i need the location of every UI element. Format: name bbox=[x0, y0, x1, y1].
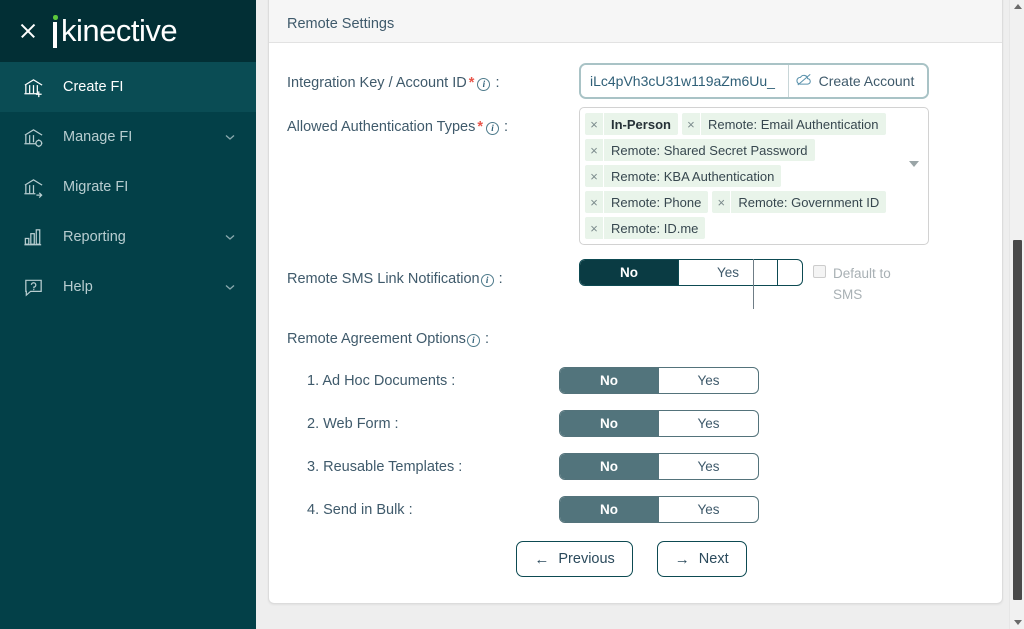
remove-tag-icon[interactable]: × bbox=[682, 113, 701, 135]
tag-chip[interactable]: × Remote: Government ID bbox=[712, 191, 886, 213]
sms-notification-row: Remote SMS Link Notificationi : No Yes D… bbox=[287, 259, 976, 305]
agreement-row-label: 4. Send in Bulk : bbox=[287, 502, 559, 518]
auth-types-row: Allowed Authentication Types*i : × In-Pe… bbox=[287, 107, 976, 245]
agreement-options-label: Remote Agreement Optionsi : bbox=[287, 331, 976, 347]
sms-label: Remote SMS Link Notificationi : bbox=[287, 259, 579, 289]
tag-chip[interactable]: × Remote: Email Authentication bbox=[682, 113, 886, 135]
scrollbar-thumb[interactable] bbox=[1013, 240, 1022, 600]
arrow-right-icon: → bbox=[675, 552, 690, 567]
send-in-bulk-toggle[interactable]: No Yes bbox=[559, 496, 759, 523]
web-form-toggle[interactable]: No Yes bbox=[559, 410, 759, 437]
sidebar-item-create-fi[interactable]: Create FI bbox=[0, 62, 256, 112]
remove-tag-icon[interactable]: × bbox=[585, 139, 604, 161]
label-colon: : bbox=[504, 119, 508, 135]
sidebar-item-label: Migrate FI bbox=[63, 179, 236, 195]
cloud-off-icon bbox=[796, 73, 812, 89]
previous-button[interactable]: ← Previous bbox=[516, 541, 632, 577]
toggle-yes[interactable]: Yes bbox=[659, 368, 758, 393]
brand-name: kinective bbox=[61, 14, 177, 48]
sms-toggle-yes[interactable]: Yes bbox=[679, 260, 778, 285]
main-content: Remote Settings Integration Key / Accoun… bbox=[256, 0, 1024, 629]
tag-label: Remote: Email Authentication bbox=[701, 113, 886, 135]
scroll-down-arrow-icon[interactable] bbox=[1014, 620, 1022, 625]
integration-key-group: Create Account bbox=[579, 63, 929, 99]
sidebar-item-label: Create FI bbox=[63, 79, 236, 95]
sms-toggle-no[interactable]: No bbox=[580, 260, 679, 285]
integration-key-row: Integration Key / Account ID*i : bbox=[287, 63, 976, 99]
tag-label: Remote: Shared Secret Password bbox=[604, 139, 815, 161]
next-button-label: Next bbox=[699, 551, 729, 567]
toggle-no[interactable]: No bbox=[560, 454, 659, 479]
sidebar-item-label: Help bbox=[63, 279, 206, 295]
sidebar-item-label: Reporting bbox=[63, 229, 206, 245]
default-to-sms-checkbox-wrap: Default to SMS bbox=[813, 259, 905, 305]
brand-logo: kinective bbox=[52, 14, 177, 48]
sidebar-nav: Create FI Manage FI bbox=[0, 62, 256, 312]
toggle-no[interactable]: No bbox=[560, 497, 659, 522]
remove-tag-icon[interactable]: × bbox=[712, 191, 731, 213]
bar-chart-icon bbox=[22, 226, 45, 249]
scroll-up-arrow-icon[interactable] bbox=[1014, 4, 1022, 9]
page-scrollbar[interactable] bbox=[1009, 0, 1024, 629]
label-colon: : bbox=[495, 75, 499, 91]
reusable-templates-toggle[interactable]: No Yes bbox=[559, 453, 759, 480]
remove-tag-icon[interactable]: × bbox=[585, 113, 604, 135]
agreement-row-web-form: 2. Web Form : No Yes bbox=[287, 410, 976, 437]
arrow-left-icon: ← bbox=[534, 552, 549, 567]
create-account-label: Create Account bbox=[819, 73, 915, 89]
card-body: Integration Key / Account ID*i : bbox=[269, 43, 1002, 603]
sms-toggle[interactable]: No Yes bbox=[579, 259, 803, 286]
integration-key-label: Integration Key / Account ID*i : bbox=[287, 63, 579, 93]
default-to-sms-checkbox[interactable] bbox=[813, 265, 826, 278]
sms-toggle-spacer bbox=[778, 260, 802, 285]
divider-line bbox=[753, 259, 754, 309]
agreement-row-label: 1. Ad Hoc Documents : bbox=[287, 373, 559, 389]
remove-tag-icon[interactable]: × bbox=[585, 165, 604, 187]
bank-add-icon bbox=[22, 76, 45, 99]
tag-chip[interactable]: × In-Person bbox=[585, 113, 678, 135]
info-icon[interactable]: i bbox=[467, 334, 480, 347]
integration-key-control: Create Account bbox=[579, 63, 929, 99]
create-account-button[interactable]: Create Account bbox=[789, 65, 927, 97]
default-to-sms-label: Default to SMS bbox=[833, 263, 905, 305]
tag-chip[interactable]: × Remote: Shared Secret Password bbox=[585, 139, 815, 161]
toggle-no[interactable]: No bbox=[560, 411, 659, 436]
tag-label: Remote: Government ID bbox=[731, 191, 886, 213]
sidebar: kinective Create FI bbox=[0, 0, 256, 629]
agreement-row-label: 3. Reusable Templates : bbox=[287, 459, 559, 475]
close-icon[interactable] bbox=[18, 21, 38, 41]
info-icon[interactable]: i bbox=[477, 78, 490, 91]
toggle-yes[interactable]: Yes bbox=[659, 411, 758, 436]
chevron-down-icon[interactable] bbox=[224, 131, 236, 143]
auth-types-label-text: Allowed Authentication Types bbox=[287, 119, 475, 135]
info-icon[interactable]: i bbox=[486, 122, 499, 135]
auth-types-multiselect[interactable]: × In-Person × Remote: Email Authenticati… bbox=[579, 107, 929, 245]
sms-label-text: Remote SMS Link Notification bbox=[287, 271, 480, 287]
tag-label: In-Person bbox=[604, 113, 678, 135]
tag-chip[interactable]: × Remote: KBA Authentication bbox=[585, 165, 781, 187]
agreement-row-reusable-templates: 3. Reusable Templates : No Yes bbox=[287, 453, 976, 480]
toggle-no[interactable]: No bbox=[560, 368, 659, 393]
sms-control: No Yes Default to SMS bbox=[579, 259, 905, 305]
bank-gear-icon bbox=[22, 126, 45, 149]
info-icon[interactable]: i bbox=[481, 274, 494, 287]
sidebar-brand-bar: kinective bbox=[0, 0, 256, 62]
remove-tag-icon[interactable]: × bbox=[585, 191, 604, 213]
sidebar-item-migrate-fi[interactable]: Migrate FI bbox=[0, 162, 256, 212]
remove-tag-icon[interactable]: × bbox=[585, 217, 604, 239]
question-chat-icon bbox=[22, 276, 45, 299]
required-asterisk: * bbox=[475, 119, 485, 135]
bank-arrow-icon bbox=[22, 176, 45, 199]
toggle-yes[interactable]: Yes bbox=[659, 497, 758, 522]
agreement-label-text: Remote Agreement Options bbox=[287, 331, 466, 347]
card-header: Remote Settings bbox=[269, 0, 1002, 43]
sidebar-item-reporting[interactable]: Reporting bbox=[0, 212, 256, 262]
chevron-down-icon[interactable] bbox=[224, 231, 236, 243]
chevron-down-icon[interactable] bbox=[909, 161, 919, 167]
required-asterisk: * bbox=[467, 75, 477, 91]
auth-types-label: Allowed Authentication Types*i : bbox=[287, 107, 579, 137]
app-root: kinective Create FI bbox=[0, 0, 1024, 629]
sidebar-item-help[interactable]: Help bbox=[0, 262, 256, 312]
ad-hoc-documents-toggle[interactable]: No Yes bbox=[559, 367, 759, 394]
tag-chip[interactable]: × Remote: Phone bbox=[585, 191, 708, 213]
tag-label: Remote: KBA Authentication bbox=[604, 165, 781, 187]
logo-mark-icon bbox=[52, 14, 61, 48]
tag-chip[interactable]: × Remote: ID.me bbox=[585, 217, 705, 239]
sidebar-item-label: Manage FI bbox=[63, 129, 206, 145]
label-colon: : bbox=[499, 271, 503, 287]
previous-button-label: Previous bbox=[558, 551, 614, 567]
remote-settings-card: Remote Settings Integration Key / Accoun… bbox=[268, 0, 1003, 604]
sidebar-item-manage-fi[interactable]: Manage FI bbox=[0, 112, 256, 162]
tag-label: Remote: ID.me bbox=[604, 217, 705, 239]
label-colon: : bbox=[485, 331, 489, 347]
page-title: Remote Settings bbox=[287, 16, 394, 32]
agreement-row-label: 2. Web Form : bbox=[287, 416, 559, 432]
next-button[interactable]: → Next bbox=[657, 541, 747, 577]
integration-key-input[interactable] bbox=[581, 65, 789, 97]
agreement-row-send-in-bulk: 4. Send in Bulk : No Yes bbox=[287, 496, 976, 523]
toggle-yes[interactable]: Yes bbox=[659, 454, 758, 479]
wizard-footer: ← Previous → Next bbox=[287, 541, 976, 577]
chevron-down-icon[interactable] bbox=[224, 281, 236, 293]
agreement-row-ad-hoc-documents: 1. Ad Hoc Documents : No Yes bbox=[287, 367, 976, 394]
tag-label: Remote: Phone bbox=[604, 191, 708, 213]
integration-key-label-text: Integration Key / Account ID bbox=[287, 75, 467, 91]
